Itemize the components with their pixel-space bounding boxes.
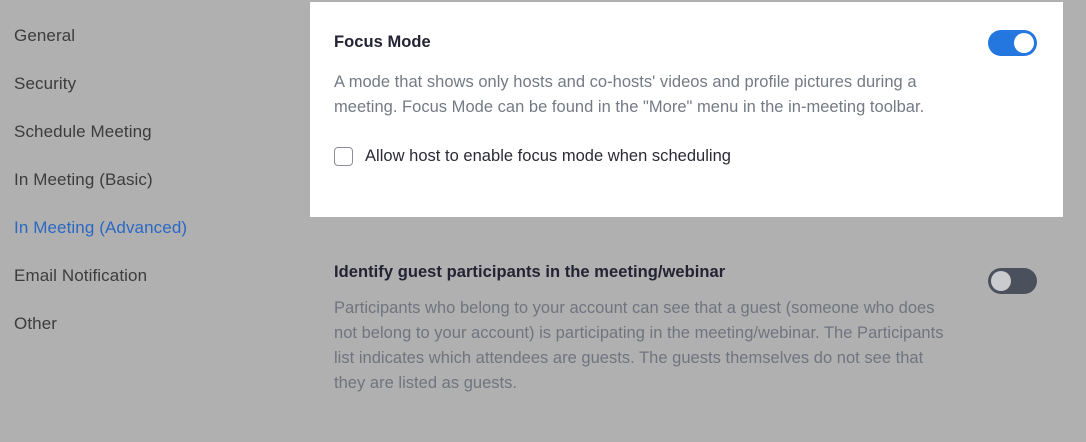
focus-mode-checkbox-row[interactable]: Allow host to enable focus mode when sch… — [334, 146, 1037, 166]
sidebar-item-schedule-meeting[interactable]: Schedule Meeting — [0, 108, 310, 156]
focus-mode-title: Focus Mode — [334, 32, 431, 52]
allow-host-focus-mode-checkbox[interactable] — [334, 147, 353, 166]
identify-guest-description: Participants who belong to your account … — [334, 296, 952, 396]
sidebar-item-security[interactable]: Security — [0, 60, 310, 108]
identify-guest-header-row: Identify guest participants in the meeti… — [334, 262, 1037, 282]
sidebar-item-in-meeting-advanced[interactable]: In Meeting (Advanced) — [0, 204, 310, 252]
settings-sidebar: General Security Schedule Meeting In Mee… — [0, 0, 310, 442]
focus-mode-description: A mode that shows only hosts and co-host… — [334, 70, 959, 120]
allow-host-focus-mode-label: Allow host to enable focus mode when sch… — [365, 146, 731, 166]
toggle-knob-icon — [1014, 33, 1034, 53]
sidebar-item-other[interactable]: Other — [0, 300, 310, 348]
focus-mode-header-row: Focus Mode — [334, 32, 1037, 56]
toggle-knob-icon — [991, 271, 1011, 291]
focus-mode-toggle[interactable] — [988, 30, 1037, 56]
identify-guest-title: Identify guest participants in the meeti… — [334, 262, 725, 282]
setting-section-identify-guest-participants: Identify guest participants in the meeti… — [310, 262, 1063, 396]
sidebar-item-in-meeting-basic[interactable]: In Meeting (Basic) — [0, 156, 310, 204]
setting-card-focus-mode: Focus Mode A mode that shows only hosts … — [310, 2, 1063, 217]
sidebar-item-general[interactable]: General — [0, 12, 310, 60]
settings-content: Focus Mode A mode that shows only hosts … — [310, 0, 1086, 442]
identify-guest-toggle[interactable] — [988, 268, 1037, 294]
sidebar-item-email-notification[interactable]: Email Notification — [0, 252, 310, 300]
